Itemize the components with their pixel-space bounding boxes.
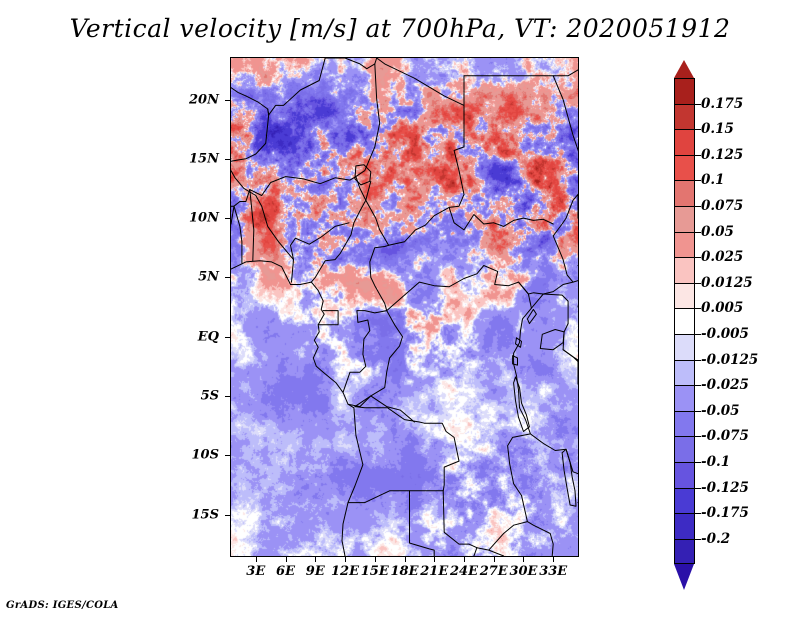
colorbar [674, 78, 695, 564]
lat-label-15N: 15N [159, 151, 219, 166]
colorbar-swatch [674, 411, 695, 437]
border-path [553, 76, 578, 282]
lat-tick [225, 218, 231, 219]
lat-label-10S: 10S [159, 448, 219, 463]
border-path [268, 109, 269, 115]
lon-tick [494, 557, 495, 562]
colorbar-swatch [674, 462, 695, 488]
colorbar-label: 0.075 [701, 198, 743, 214]
lon-tick [464, 557, 465, 562]
border-path [449, 207, 553, 230]
colorbar-label: -0.2 [701, 531, 730, 547]
border-path [343, 311, 387, 393]
plot-canvas: Vertical velocity [m/s] at 700hPa, VT: 2… [0, 0, 800, 618]
lon-tick [256, 557, 257, 562]
colorbar-label: -0.125 [701, 480, 749, 496]
colorbar-tick [695, 104, 701, 105]
border-path [464, 70, 578, 76]
colorbar-tick [695, 488, 701, 489]
lat-label-EQ: EQ [159, 329, 219, 344]
border-path [262, 177, 356, 196]
border-path [356, 64, 380, 177]
colorbar-label: 0.125 [701, 147, 743, 163]
colorbar-tick [695, 462, 701, 463]
border-path [522, 496, 554, 557]
border-path [231, 171, 294, 260]
border-path [355, 311, 403, 407]
lat-label-10N: 10N [159, 211, 219, 226]
colorbar-tick [695, 513, 701, 514]
lon-tick [405, 557, 406, 562]
colorbar-label: -0.025 [701, 377, 749, 393]
colorbar-swatch [674, 436, 695, 462]
colorbar-swatch [674, 257, 695, 283]
lon-tick [375, 557, 376, 562]
border-path [348, 491, 443, 503]
border-path [311, 177, 366, 283]
lat-tick [225, 159, 231, 160]
colorbar-tick [695, 206, 701, 207]
border-path [250, 190, 254, 261]
border-path [516, 338, 522, 348]
colorbar-swatch [674, 539, 695, 565]
colorbar-tick [695, 129, 701, 130]
border-path [366, 200, 389, 310]
border-path [443, 491, 477, 548]
colorbar-swatch [674, 488, 695, 514]
lat-tick [225, 100, 231, 101]
colorbar-label: -0.1 [701, 454, 730, 470]
border-path [366, 181, 371, 200]
colorbar-tick [695, 360, 701, 361]
colorbar-tick [695, 283, 701, 284]
colorbar-label: 0.0125 [701, 275, 753, 291]
colorbar-label: -0.175 [701, 505, 749, 521]
colorbar-swatch [674, 129, 695, 155]
colorbar-tick [695, 232, 701, 233]
lon-label-33E: 33E [533, 564, 573, 579]
border-path [318, 311, 338, 325]
lat-tick [225, 455, 231, 456]
page-title: Vertical velocity [m/s] at 700hPa, VT: 2… [0, 14, 800, 43]
border-path [234, 206, 242, 263]
colorbar-swatch [674, 155, 695, 181]
lat-tick [225, 515, 231, 516]
colorbar-tick [695, 539, 701, 540]
colorbar-swatch [674, 308, 695, 334]
colorbar-tick [695, 180, 701, 181]
colorbar-label: -0.0125 [701, 352, 758, 368]
colorbar-tick [695, 436, 701, 437]
border-path [377, 58, 464, 147]
lat-tick [225, 396, 231, 397]
colorbar-arrow-top [674, 60, 694, 78]
colorbar-swatch [674, 232, 695, 258]
map-plot-area [231, 58, 578, 556]
colorbar-label: 0.1 [701, 172, 725, 188]
lat-tick [225, 277, 231, 278]
colorbar-swatch [674, 104, 695, 130]
colorbar-swatch [674, 78, 695, 104]
lon-tick [523, 557, 524, 562]
border-path [474, 548, 477, 556]
colorbar-swatch [674, 513, 695, 539]
lon-tick [434, 557, 435, 562]
colorbar-label: -0.005 [701, 326, 749, 342]
border-path [489, 522, 528, 551]
border-path [355, 407, 459, 491]
border-path [231, 115, 269, 161]
lat-label-15S: 15S [159, 507, 219, 522]
colorbar-label: 0.15 [701, 121, 734, 137]
border-path [231, 58, 325, 115]
lat-tick [225, 337, 231, 338]
border-path [389, 147, 464, 245]
colorbar-label: 0.025 [701, 249, 743, 265]
colorbar-swatch [674, 334, 695, 360]
colorbar-label: 0.175 [701, 96, 743, 112]
lon-tick [315, 557, 316, 562]
border-path [563, 350, 578, 373]
colorbar-arrow-bottom [674, 564, 694, 590]
colorbar-tick [695, 334, 701, 335]
lat-label-20N: 20N [159, 92, 219, 107]
colorbar-swatch [674, 360, 695, 386]
colorbar-label: -0.075 [701, 428, 749, 444]
colorbar-swatch [674, 385, 695, 411]
lat-label-5N: 5N [159, 270, 219, 285]
colorbar-tick [695, 411, 701, 412]
lat-label-5S: 5S [159, 388, 219, 403]
colorbar-label: -0.05 [701, 403, 739, 419]
colorbar-tick [695, 308, 701, 309]
border-path [231, 206, 234, 224]
lon-tick [553, 557, 554, 562]
border-path [231, 190, 250, 207]
border-path [540, 330, 564, 350]
colorbar-label: 0.005 [701, 300, 743, 316]
colorbar-swatch [674, 283, 695, 309]
border-path [410, 491, 435, 556]
colorbar-label: 0.05 [701, 224, 734, 240]
footer-credit: GrADS: IGES/COLA [6, 600, 119, 611]
country-borders-overlay [231, 58, 578, 556]
colorbar-tick [695, 155, 701, 156]
border-path [348, 396, 414, 422]
lon-tick [345, 557, 346, 562]
border-path [325, 58, 377, 69]
colorbar-swatch [674, 180, 695, 206]
colorbar-tick [695, 257, 701, 258]
colorbar-swatch [674, 206, 695, 232]
colorbar-tick [695, 385, 701, 386]
lon-tick [286, 557, 287, 562]
border-path [231, 261, 363, 556]
border-path [387, 266, 578, 311]
